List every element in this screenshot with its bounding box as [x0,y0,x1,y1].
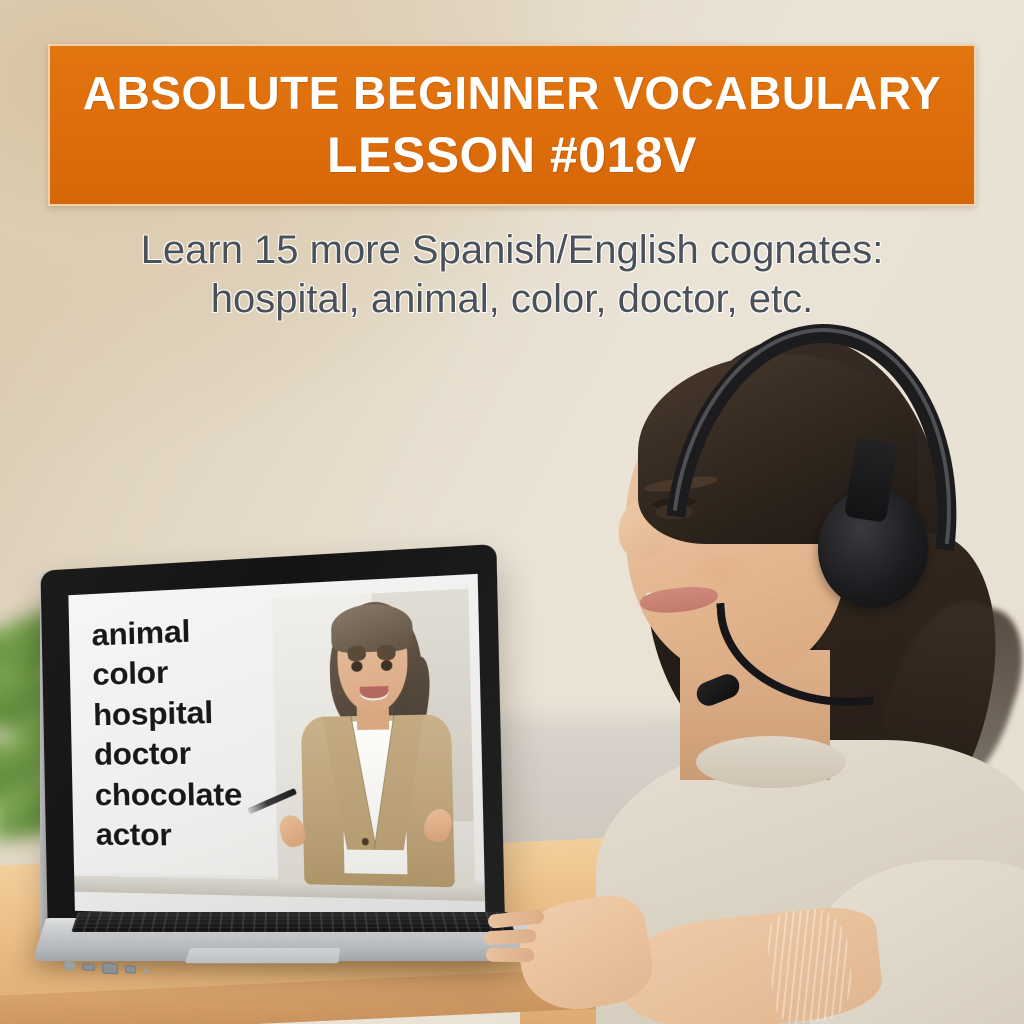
laptop-screen[interactable]: animal color hospital doctor chocolate a… [68,574,485,922]
display-port-icon [125,965,136,974]
vocab-word: chocolate [94,775,242,815]
vocab-word: actor [95,815,243,855]
lesson-thumbnail: animal color hospital doctor chocolate a… [0,0,1024,1024]
lesson-banner: ABSOLUTE BEGINNER VOCABULARY LESSON #018… [48,44,976,206]
vocab-word: hospital [93,692,241,734]
laptop-lid: animal color hospital doctor chocolate a… [40,544,505,956]
subtitle-line1: Learn 15 more Spanish/English cognates: [0,226,1024,275]
subtitle-line2: hospital, animal, color, doctor, etc. [0,275,1024,324]
vocabulary-word-list: animal color hospital doctor chocolate a… [91,609,243,855]
ethernet-port-icon [102,962,118,974]
banner-title-line1: ABSOLUTE BEGINNER VOCABULARY [83,70,941,116]
learner-with-headset [560,300,1024,1024]
audio-jack-icon [143,968,148,973]
laptop-keyboard[interactable] [71,912,515,932]
laptop-trackpad[interactable] [185,948,340,963]
power-port-icon [64,959,75,971]
lesson-subtitle: Learn 15 more Spanish/English cognates: … [0,226,1024,324]
vocab-word: color [92,651,240,695]
video-call-teacher [271,588,475,887]
vocab-word: animal [91,609,239,654]
vocab-word: doctor [94,733,242,774]
usb-port-icon [82,963,95,971]
banner-title-line2: LESSON #018V [327,130,697,180]
